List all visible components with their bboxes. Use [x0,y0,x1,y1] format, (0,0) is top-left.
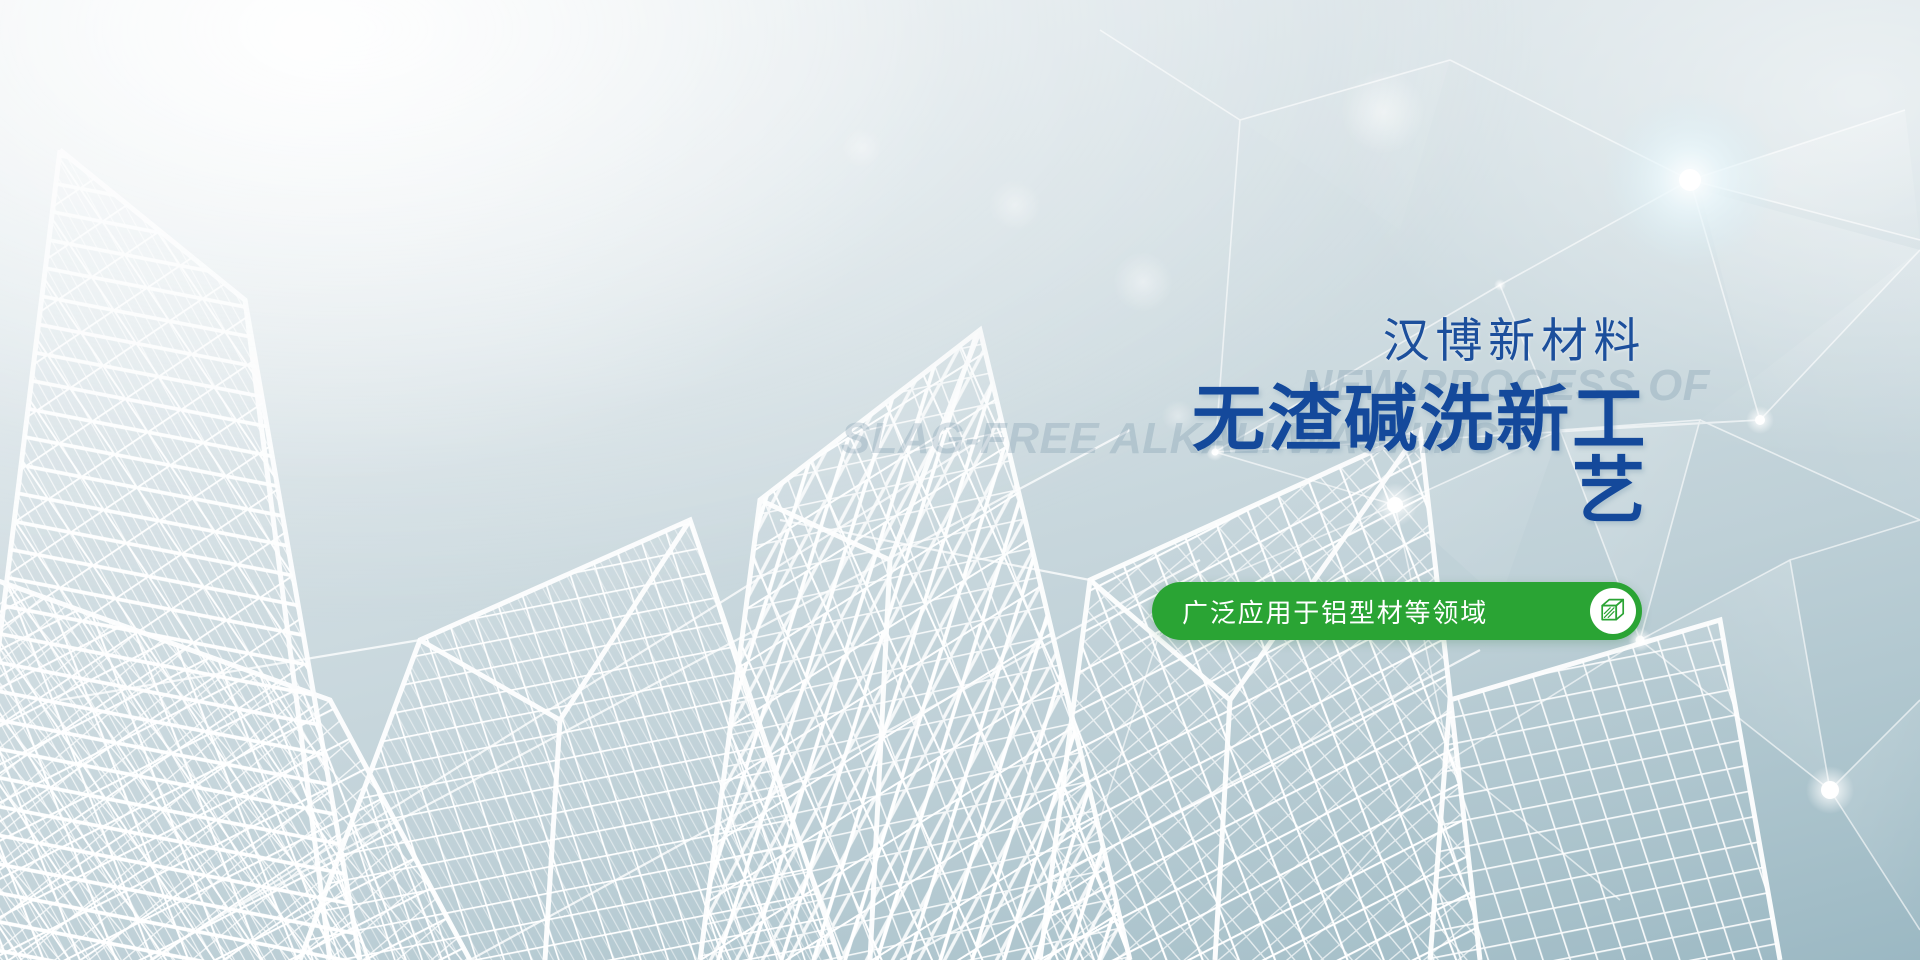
hero-banner: NEW PROCESS OF SLAG-FREE ALKALI WASHING … [0,0,1920,960]
tagline-text: 广泛应用于铝型材等领域 [1182,593,1590,630]
tagline-pill[interactable]: 广泛应用于铝型材等领域 [1152,582,1642,640]
aluminium-profile-cube-icon [1590,588,1636,634]
brand-name: 汉博新材料 [1150,318,1650,365]
banner-copy: NEW PROCESS OF SLAG-FREE ALKALI WASHING … [1150,318,1650,527]
headline: 无渣碱洗新工艺 [1140,383,1650,527]
